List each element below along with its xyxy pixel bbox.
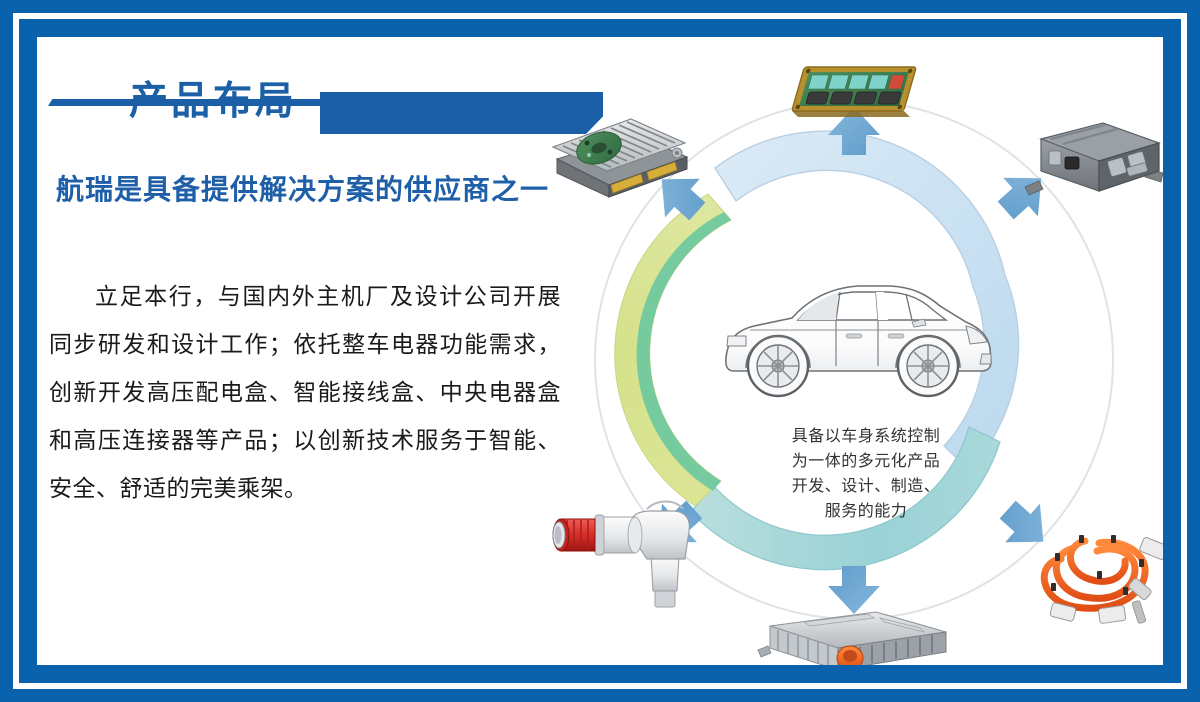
center-caption-line-4: 服务的能力: [757, 498, 975, 523]
arrow-down-right: [990, 490, 1060, 561]
body-paragraph: 立足本行，与国内外主机厂及设计公司开展同步研发和设计工作；依托整车电器功能需求，…: [49, 273, 561, 513]
product-layout-diagram: 具备以车身系统控制 为一体的多元化产品 开发、设计、制造、 服务的能力: [545, 57, 1163, 665]
center-caption-line-2: 为一体的多元化产品: [757, 448, 975, 473]
product-high-voltage-connector: [553, 502, 689, 608]
sedan-car-outline: [726, 286, 991, 396]
product-high-voltage-distribution-box: [1025, 123, 1163, 195]
product-power-distribution-unit: [758, 612, 946, 665]
center-caption: 具备以车身系统控制 为一体的多元化产品 开发、设计、制造、 服务的能力: [757, 423, 975, 523]
arrow-down-bottom: [828, 566, 880, 614]
page-title: 产品布局: [129, 70, 297, 126]
slide-root: 产品布局 航瑞是具备提供解决方案的供应商之一 立足本行，与国内外主机厂及设计公司…: [0, 0, 1200, 702]
product-relay-control-board: [792, 67, 917, 117]
ring-arc-green: [615, 194, 731, 506]
product-high-voltage-cable-harness: [1044, 535, 1163, 624]
car-wheel-rear: [748, 336, 808, 396]
center-caption-line-3: 开发、设计、制造、: [757, 473, 975, 498]
center-caption-line-1: 具备以车身系统控制: [757, 423, 975, 448]
section-subtitle: 航瑞是具备提供解决方案的供应商之一: [56, 168, 549, 208]
car-wheel-front: [898, 336, 958, 396]
slide-canvas: 产品布局 航瑞是具备提供解决方案的供应商之一 立足本行，与国内外主机厂及设计公司…: [37, 37, 1163, 665]
